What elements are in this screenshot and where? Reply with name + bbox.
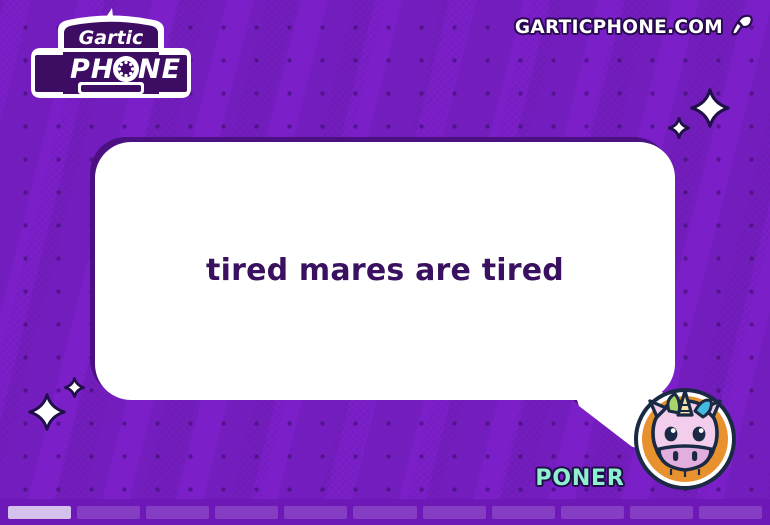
site-url-label: GARTICPHONE.COM bbox=[515, 17, 723, 38]
svg-text:NE: NE bbox=[138, 54, 181, 85]
progress-bar bbox=[0, 499, 770, 525]
progress-segment[interactable] bbox=[215, 506, 278, 519]
site-url: GARTICPHONE.COM bbox=[515, 14, 754, 40]
gartic-phone-screen: Gartic PH NE GARTICPHONE.COM bbox=[0, 0, 770, 525]
progress-segment[interactable] bbox=[630, 506, 693, 519]
progress-segment[interactable] bbox=[146, 506, 209, 519]
gartic-phone-logo: Gartic PH NE bbox=[26, 8, 196, 103]
progress-segment[interactable] bbox=[492, 506, 555, 519]
speech-bubble-text: tired mares are tired bbox=[172, 252, 598, 290]
sparkle-icon-top-right-small bbox=[668, 117, 690, 143]
player-name: PONER bbox=[520, 466, 640, 491]
svg-text:Gartic: Gartic bbox=[79, 27, 144, 49]
progress-segment[interactable] bbox=[423, 506, 486, 519]
unicorn-avatar bbox=[633, 387, 737, 491]
progress-segment[interactable] bbox=[77, 506, 140, 519]
sparkle-icon-top-right-large bbox=[690, 88, 730, 132]
progress-segment[interactable] bbox=[699, 506, 762, 519]
progress-segment[interactable] bbox=[8, 506, 71, 519]
progress-segment[interactable] bbox=[284, 506, 347, 519]
sparkle-icon-bottom-left-large bbox=[28, 393, 66, 435]
speech-bubble-body: tired mares are tired bbox=[95, 142, 675, 400]
progress-segment[interactable] bbox=[561, 506, 624, 519]
progress-segment[interactable] bbox=[353, 506, 416, 519]
speech-bubble: tired mares are tired bbox=[95, 142, 675, 400]
sparkle-icon-bottom-left-small bbox=[64, 377, 85, 402]
brush-icon bbox=[730, 14, 754, 40]
svg-text:PH: PH bbox=[70, 54, 114, 85]
